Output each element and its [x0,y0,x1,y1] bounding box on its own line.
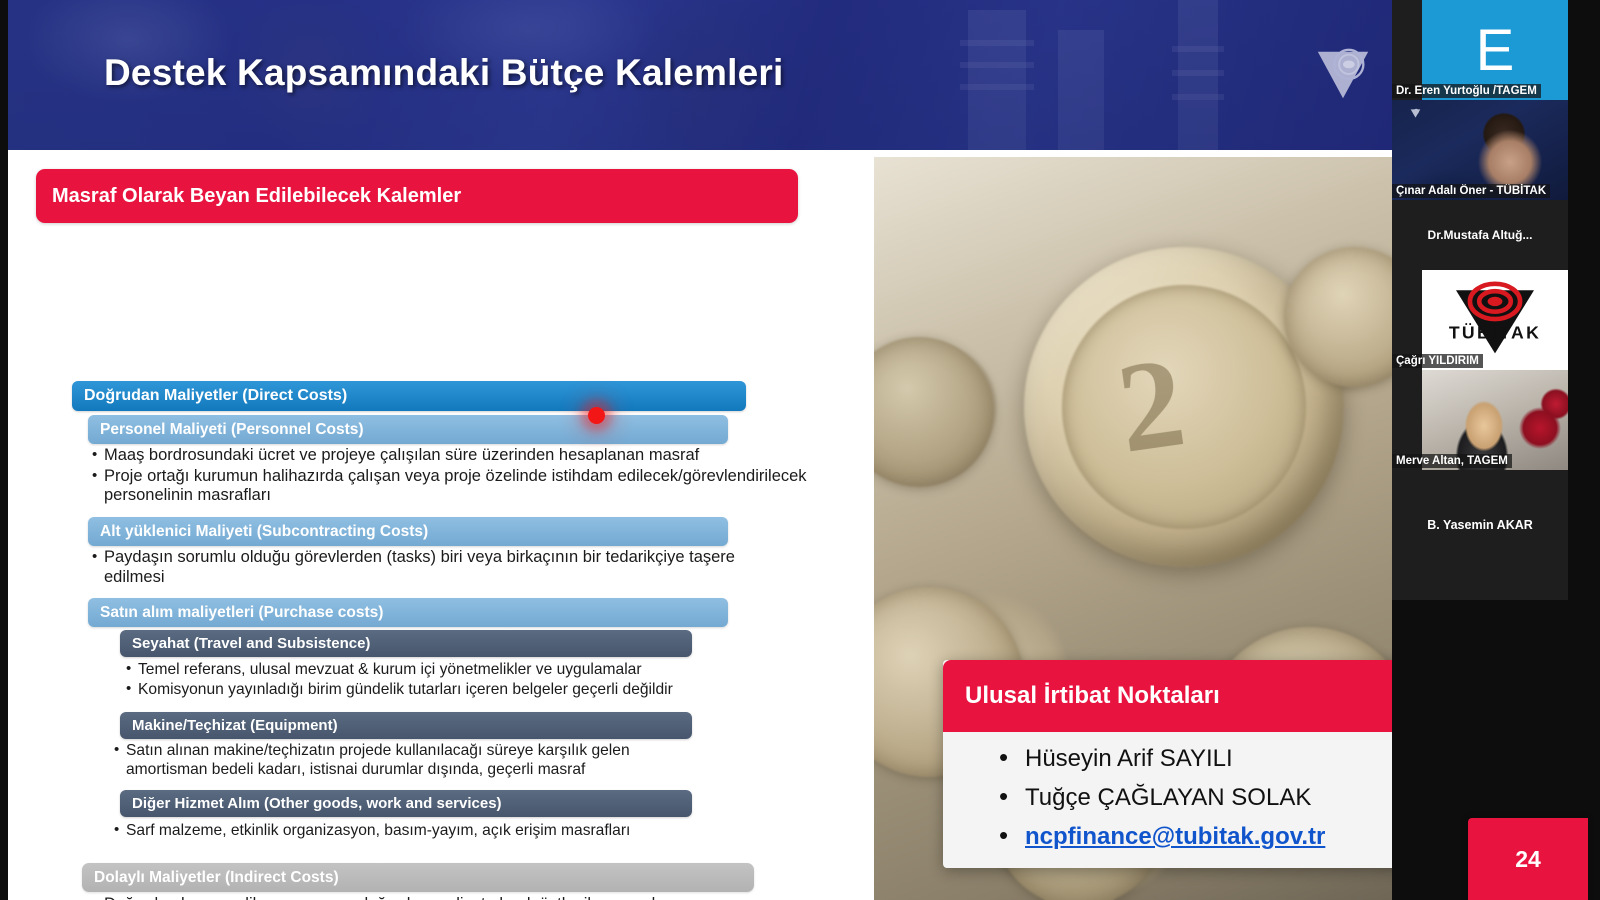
list-item: Sarf malzeme, etkinlik organizasyon, bas… [114,822,814,841]
participant-tile[interactable]: TÜBİTAK Çağrı YILDIRIM [1392,270,1568,370]
bullets-personnel-costs: Maaş bordrosundaki ücret ve projeye çalı… [92,446,852,507]
bullets-travel: Temel referans, ulusal mevzuat & kurum i… [126,661,826,700]
list-item: Paydaşın sorumlu olduğu görevlerden (tas… [92,548,792,587]
list-item: Doğrudan beyan edilemeyen veya doğrudan … [92,895,752,900]
participant-name: Çınar Adalı Öner - TÜBİTAK [1392,184,1550,198]
section-header-direct-costs: Doğrudan Maliyetler (Direct Costs) [72,381,746,411]
list-item: Proje ortağı kurumun halihazırda çalışan… [92,467,852,506]
participant-tile[interactable]: Dr.Mustafa Altuğ... [1392,200,1568,270]
header-texture [1172,94,1224,100]
section-header-equipment: Makine/Teçhizat (Equipment) [120,712,692,739]
list-item: Maaş bordrosundaki ücret ve projeye çalı… [92,446,852,466]
header-texture [1178,0,1218,150]
tubitak-logo-watermark [1312,44,1374,106]
section-header-indirect-costs: Dolaylı Maliyetler (Indirect Costs) [82,863,754,892]
participant-name: Çağrı YILDIRIM [1392,354,1483,368]
participant-tile[interactable]: B. Yasemin AKAR [1392,470,1568,580]
header-texture [960,40,1034,46]
contact-card-title: Ulusal İrtibat Noktaları [943,660,1392,732]
laser-pointer-cursor [588,407,605,424]
section-header-other-services: Diğer Hizmet Alım (Other goods, work and… [120,790,692,817]
slide-body: Masraf Olarak Beyan Edilebilecek Kalemle… [8,150,874,900]
contact-card: Ulusal İrtibat Noktaları Hüseyin Arif SA… [943,660,1392,868]
contact-list: Hüseyin Arif SAYILI Tuğçe ÇAĞLAYAN SOLAK… [995,742,1325,859]
list-item: Hüseyin Arif SAYILI [995,742,1325,776]
participant-tile[interactable]: E Dr. Eren Yurtoğlu /TAGEM [1392,0,1568,100]
bullets-indirect-costs: Doğrudan beyan edilemeyen veya doğrudan … [92,895,752,900]
bullets-other-services: Sarf malzeme, etkinlik organizasyon, bas… [114,822,814,842]
list-item: Satın alınan makine/teçhizatın projede k… [114,742,714,779]
participant-tile[interactable]: Merve Altan, TAGEM [1392,370,1568,470]
list-item: Komisyonun yayınladığı birim gündelik tu… [126,681,826,700]
page-number-badge: 24 [1468,818,1588,900]
participant-name: Dr.Mustafa Altuğ... [1428,228,1533,242]
section-header-purchase-costs: Satın alım maliyetleri (Purchase costs) [88,598,728,627]
list-item: ncpfinance@tubitak.gov.tr [995,820,1325,854]
list-item: Temel referans, ulusal mevzuat & kurum i… [126,661,826,680]
header-texture [960,62,1034,68]
bullets-equipment: Satın alınan makine/teçhizatın projede k… [114,742,714,780]
header-texture [960,84,1034,90]
screen: Destek Kapsamındaki Bütçe Kalemleri 2 Ma… [0,0,1600,900]
slide-header-banner: Destek Kapsamındaki Bütçe Kalemleri [8,0,1392,150]
participant-tile[interactable]: Çınar Adalı Öner - TÜBİTAK [1392,100,1568,200]
section-header-travel: Seyahat (Travel and Subsistence) [120,630,692,657]
header-texture [1172,70,1224,76]
participant-name: Merve Altan, TAGEM [1392,454,1512,468]
tubitak-logo-icon: TÜBİTAK [1436,281,1554,359]
section-header-declarable-items: Masraf Olarak Beyan Edilebilecek Kalemle… [36,169,798,223]
contact-email-link[interactable]: ncpfinance@tubitak.gov.tr [1025,823,1325,850]
presentation-slide: Destek Kapsamındaki Bütçe Kalemleri 2 Ma… [8,0,1392,900]
header-texture [1058,30,1104,150]
list-item: Tuğçe ÇAĞLAYAN SOLAK [995,781,1325,815]
header-texture [968,10,1026,150]
page-title: Destek Kapsamındaki Bütçe Kalemleri [104,52,783,94]
svg-text:TÜBİTAK: TÜBİTAK [1449,323,1541,343]
participant-name: Dr. Eren Yurtoğlu /TAGEM [1392,84,1541,98]
participants-panel[interactable]: E Dr. Eren Yurtoğlu /TAGEM Çınar Adalı Ö… [1392,0,1568,600]
bullets-subcontracting-costs: Paydaşın sorumlu olduğu görevlerden (tas… [92,548,792,588]
participant-name: B. Yasemin AKAR [1427,518,1533,532]
section-header-subcontracting-costs: Alt yüklenici Maliyeti (Subcontracting C… [88,517,728,546]
section-header-personnel-costs: Personel Maliyeti (Personnel Costs) [88,415,728,444]
tubitak-logo-icon [1410,108,1421,119]
header-texture [1172,46,1224,52]
